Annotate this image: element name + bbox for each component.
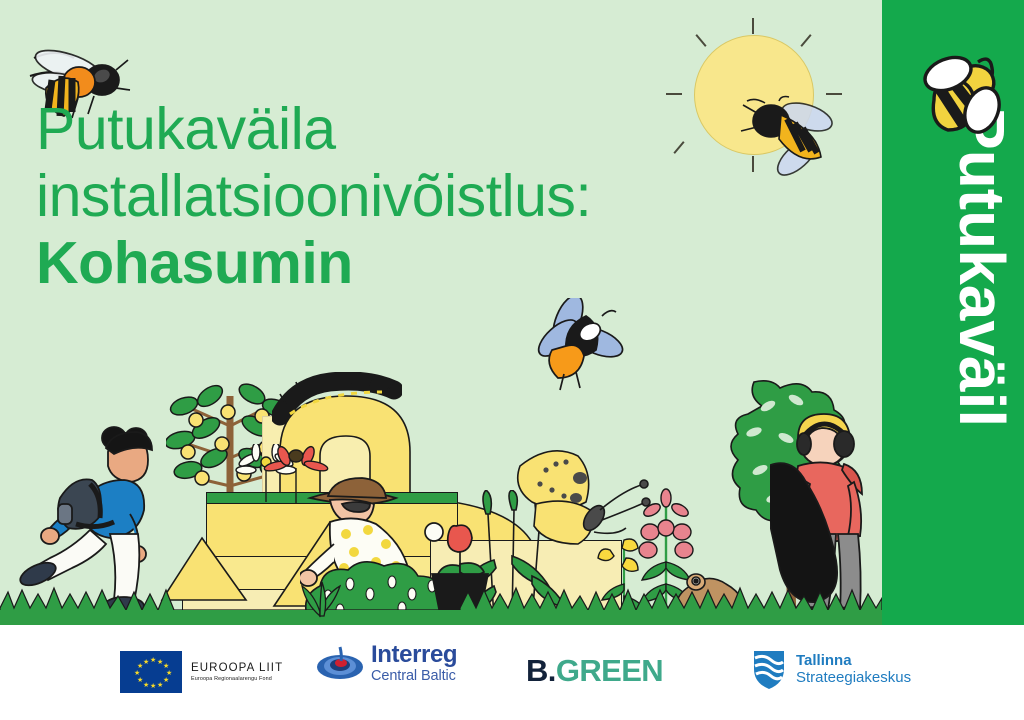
bgreen-part-1: B. bbox=[526, 653, 556, 688]
title-line-3: Kohasumin bbox=[36, 230, 796, 297]
yellow-butterfly-icon bbox=[494, 440, 654, 570]
logo-interreg-central-baltic: Interreg Central Baltic bbox=[316, 643, 457, 684]
tallinna-logo-line-1: Tallinna bbox=[796, 653, 911, 670]
interreg-logo-line-2: Central Baltic bbox=[371, 669, 457, 684]
bumblebee-flying-icon bbox=[524, 298, 636, 394]
sidebar-vertical-text: Putukaväil bbox=[945, 107, 1019, 625]
logo-tallinna-strateegiakeskus: Tallinna Strateegiakeskus bbox=[752, 649, 911, 691]
page-title: Putukaväila installatsioonivõistlus: Koh… bbox=[36, 96, 796, 297]
grass bbox=[0, 586, 882, 625]
sun-ray bbox=[752, 18, 754, 34]
bee-logo-icon bbox=[912, 48, 1008, 140]
caterpillar-icon bbox=[272, 372, 402, 428]
illustration-canvas: Putukaväila installatsioonivõistlus: Koh… bbox=[0, 0, 882, 625]
sun-ray bbox=[666, 93, 682, 95]
bgreen-part-2: GREEN bbox=[556, 653, 663, 688]
logo-european-union: ★ ★ ★ ★ ★ ★ ★ ★ ★ ★ ★ ★ EUROOPA LIIT Eur… bbox=[120, 651, 283, 693]
title-line-2: installatsioonivõistlus: bbox=[36, 163, 796, 230]
poster: Putukaväila installatsioonivõistlus: Koh… bbox=[0, 0, 1024, 720]
eu-logo-line-2: Euroopa Regionaalarengu Fond bbox=[191, 676, 283, 682]
tallinn-shield-icon bbox=[752, 649, 786, 691]
logo-b-green: B.GREEN bbox=[526, 653, 663, 689]
title-line-1: Putukaväila bbox=[36, 96, 796, 163]
interreg-logo-line-1: Interreg bbox=[371, 643, 457, 667]
tallinna-logo-line-2: Strateegiakeskus bbox=[796, 670, 911, 687]
interreg-target-icon bbox=[316, 643, 364, 683]
eu-logo-line-1: EUROOPA LIIT bbox=[191, 662, 283, 674]
sun-ray bbox=[800, 34, 811, 47]
grass-tuft bbox=[296, 578, 346, 618]
footer-logo-strip: ★ ★ ★ ★ ★ ★ ★ ★ ★ ★ ★ ★ EUROOPA LIIT Eur… bbox=[0, 625, 1024, 720]
eu-flag-icon: ★ ★ ★ ★ ★ ★ ★ ★ ★ ★ ★ ★ bbox=[120, 651, 182, 693]
sun-ray bbox=[695, 34, 706, 47]
